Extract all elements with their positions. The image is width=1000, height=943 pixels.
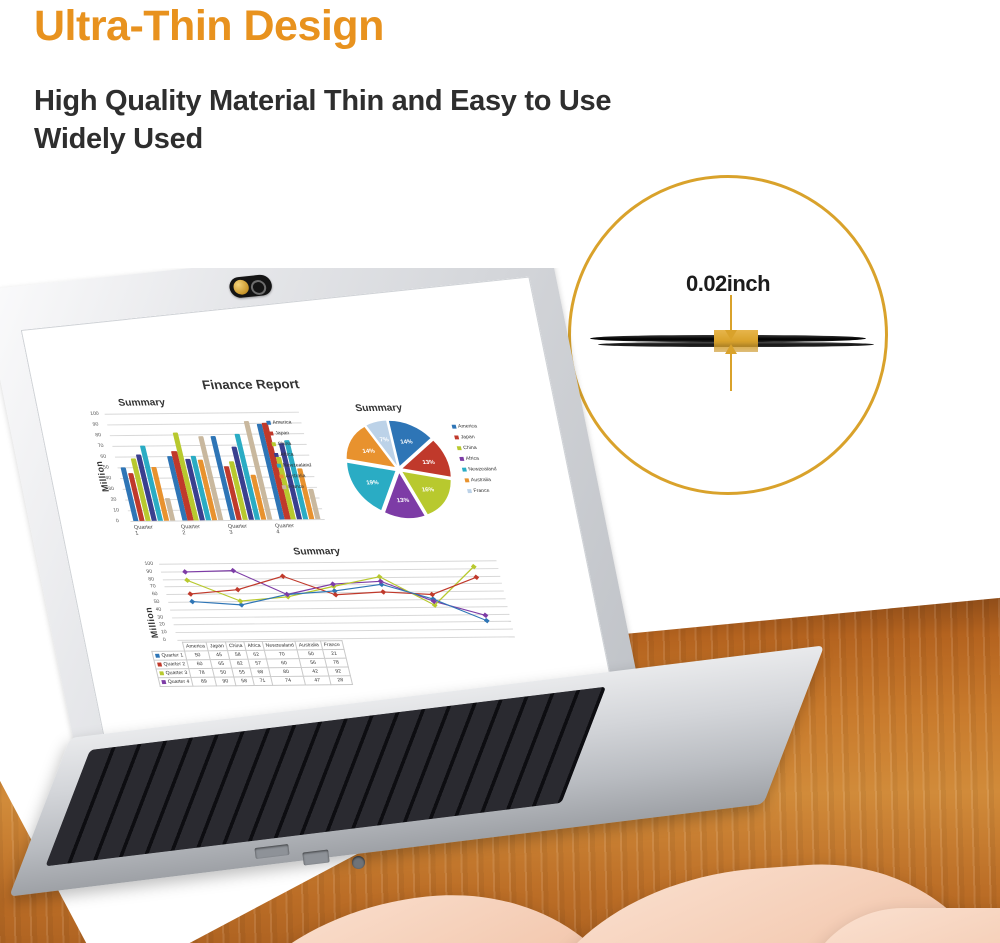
line-chart-title: Summary: [292, 546, 341, 557]
pie-slice-label: 14%: [400, 440, 414, 446]
series-swatch: [155, 653, 160, 657]
table-cell: 71: [252, 677, 272, 686]
table-cell: 50: [213, 668, 234, 677]
table-cell: 42: [302, 667, 329, 676]
table-cell: 92: [327, 667, 350, 676]
y-axis-tick: 40: [105, 475, 112, 481]
table-row-label: Quarter 1: [152, 651, 187, 660]
line-marker: [473, 574, 479, 580]
y-axis-tick: 30: [157, 614, 164, 620]
table-cell: 82: [230, 659, 251, 668]
y-axis-tick: 0: [115, 518, 119, 524]
table-column-header: China: [225, 642, 246, 651]
table-row: Quarter 489905871744728: [158, 676, 352, 687]
legend-item: Japan: [454, 434, 475, 440]
table-cell: 56: [300, 658, 327, 667]
series-swatch: [157, 662, 162, 666]
page-headline: Ultra-Thin Design: [34, 2, 384, 51]
line-chart: 0102030405060708090100: [159, 560, 515, 640]
legend-item: Australia: [279, 473, 306, 479]
table-cell: 50: [185, 651, 211, 660]
table-column-header: Australia: [295, 641, 322, 650]
legend-swatch: [282, 485, 287, 489]
headphone-jack: [352, 856, 365, 869]
line-marker: [230, 568, 236, 574]
table-cell: 62: [246, 650, 266, 659]
legend-swatch: [462, 467, 467, 471]
legend-swatch: [457, 446, 462, 450]
table-cell: 47: [304, 676, 331, 685]
legend-swatch: [269, 431, 274, 435]
legend-item: China: [271, 441, 292, 447]
y-axis-tick: 70: [149, 584, 156, 590]
line-marker: [280, 573, 286, 579]
legend-swatch: [266, 420, 271, 424]
y-axis-tick: 50: [102, 465, 109, 471]
y-axis-tick: 70: [97, 443, 104, 449]
line-marker: [238, 598, 244, 604]
line-marker: [380, 589, 386, 595]
x-axis-category: Quarter 1: [133, 525, 155, 537]
legend-item: Newzealand: [276, 462, 312, 468]
table-cell: 50: [298, 650, 325, 659]
x-axis-category: Quarter 4: [274, 523, 296, 535]
line-marker: [484, 618, 490, 624]
line-chart-svg: [159, 560, 515, 640]
pie-slice-label: 13%: [422, 460, 436, 466]
legend-swatch: [452, 424, 457, 428]
table-cell: 78: [325, 658, 348, 667]
table-row-label: Quarter 2: [154, 660, 189, 669]
table-cell: 57: [248, 659, 268, 668]
table-cell: 58: [228, 650, 249, 659]
table-row-label: Quarter 4: [158, 677, 193, 686]
x-axis-category: Quarter 3: [227, 524, 249, 536]
line-marker: [483, 613, 489, 619]
legend-swatch: [274, 453, 279, 457]
table-cell: 68: [250, 668, 270, 677]
gridline: [105, 412, 299, 415]
table-cell: 78: [189, 668, 215, 677]
x-axis-category: Quarter 2: [180, 524, 202, 536]
line-marker: [429, 592, 435, 598]
table-cell: 55: [232, 668, 253, 677]
y-axis-tick: 90: [92, 422, 99, 428]
y-axis-tick: 10: [113, 507, 120, 513]
table-cell: 74: [271, 676, 306, 685]
table-cell: 65: [211, 659, 232, 668]
legend-swatch: [454, 435, 459, 439]
line-marker: [182, 569, 188, 575]
table-column-header: Africa: [244, 641, 264, 650]
legend-swatch: [464, 478, 469, 482]
legend-item: America: [451, 424, 477, 430]
legend-swatch: [459, 457, 464, 461]
pie-slice-label: 19%: [366, 480, 380, 486]
series-swatch: [161, 680, 166, 684]
line-marker: [188, 591, 194, 597]
y-axis-tick: 20: [110, 497, 117, 503]
legend-item: Newzealand: [462, 466, 498, 472]
table-cell: 28: [329, 676, 352, 685]
table-row-label: Quarter 3: [156, 669, 191, 678]
pie-slice-label: 7%: [379, 437, 390, 443]
line-marker: [189, 599, 195, 605]
legend-item: France: [467, 488, 490, 494]
y-axis-tick: 20: [159, 622, 166, 628]
pie-chart: 14%13%16%13%19%14%7%: [331, 416, 467, 523]
legend-item: America: [266, 420, 292, 426]
line-marker: [235, 587, 241, 593]
table-cell: 89: [191, 677, 217, 686]
table-cell: 80: [268, 667, 303, 676]
line-marker: [377, 574, 383, 580]
pie-slice-label: 13%: [396, 498, 410, 504]
bar-chart-title: Summary: [117, 397, 166, 408]
y-axis-tick: 30: [108, 486, 115, 492]
legend-item: Africa: [274, 452, 295, 458]
y-axis-tick: 90: [146, 569, 153, 575]
table-column-header: America: [183, 642, 209, 651]
pie-slice-label: 14%: [362, 449, 376, 455]
y-axis-tick: 60: [100, 454, 107, 460]
table-cell: 45: [209, 651, 230, 660]
legend-item: France: [281, 484, 304, 490]
product-photo-scene: Finance Report Summary Million 010203040…: [0, 268, 1000, 943]
page-subheadline: High Quality Material Thin and Easy to U…: [34, 82, 674, 159]
series-swatch: [159, 671, 164, 675]
y-axis-tick: 40: [155, 607, 162, 613]
table-corner-cell: [150, 642, 185, 651]
webcam-cover-slider-icon: [228, 274, 274, 299]
legend-swatch: [271, 442, 276, 446]
legend-item: Japan: [268, 430, 289, 436]
y-axis-tick: 80: [95, 432, 102, 438]
y-axis-tick: 50: [153, 599, 160, 605]
y-axis-tick: 10: [160, 629, 167, 635]
slide-title: Finance Report: [200, 377, 300, 393]
legend-swatch: [276, 463, 281, 467]
table-column-header: France: [320, 641, 343, 650]
data-table: AmericaJapanChinaAfricaNewzealandAustral…: [149, 640, 352, 687]
y-axis-tick: 60: [151, 591, 158, 597]
pie-slice-label: 16%: [421, 487, 435, 493]
table-cell: 58: [234, 677, 255, 686]
y-axis-tick: 100: [144, 561, 154, 567]
y-axis-tick: 80: [148, 576, 155, 582]
pie-chart-title: Summary: [354, 403, 403, 414]
table-cell: 70: [264, 650, 299, 659]
table-cell: 90: [215, 677, 236, 686]
table-cell: 60: [187, 660, 213, 669]
y-axis-tick: 100: [90, 411, 100, 417]
table-cell: 21: [323, 649, 346, 658]
legend-item: Africa: [459, 456, 480, 462]
legend-item: Australia: [464, 477, 491, 483]
legend-swatch: [467, 489, 472, 493]
legend-item: China: [457, 445, 478, 451]
line-marker: [333, 592, 339, 598]
table-column-header: Japan: [206, 642, 227, 651]
table-column-header: Newzealand: [262, 641, 297, 650]
pie-chart-svg: 14%13%16%13%19%14%7%: [331, 416, 467, 523]
legend-swatch: [279, 474, 284, 478]
table-cell: 60: [266, 659, 301, 668]
line-marker: [184, 578, 190, 584]
